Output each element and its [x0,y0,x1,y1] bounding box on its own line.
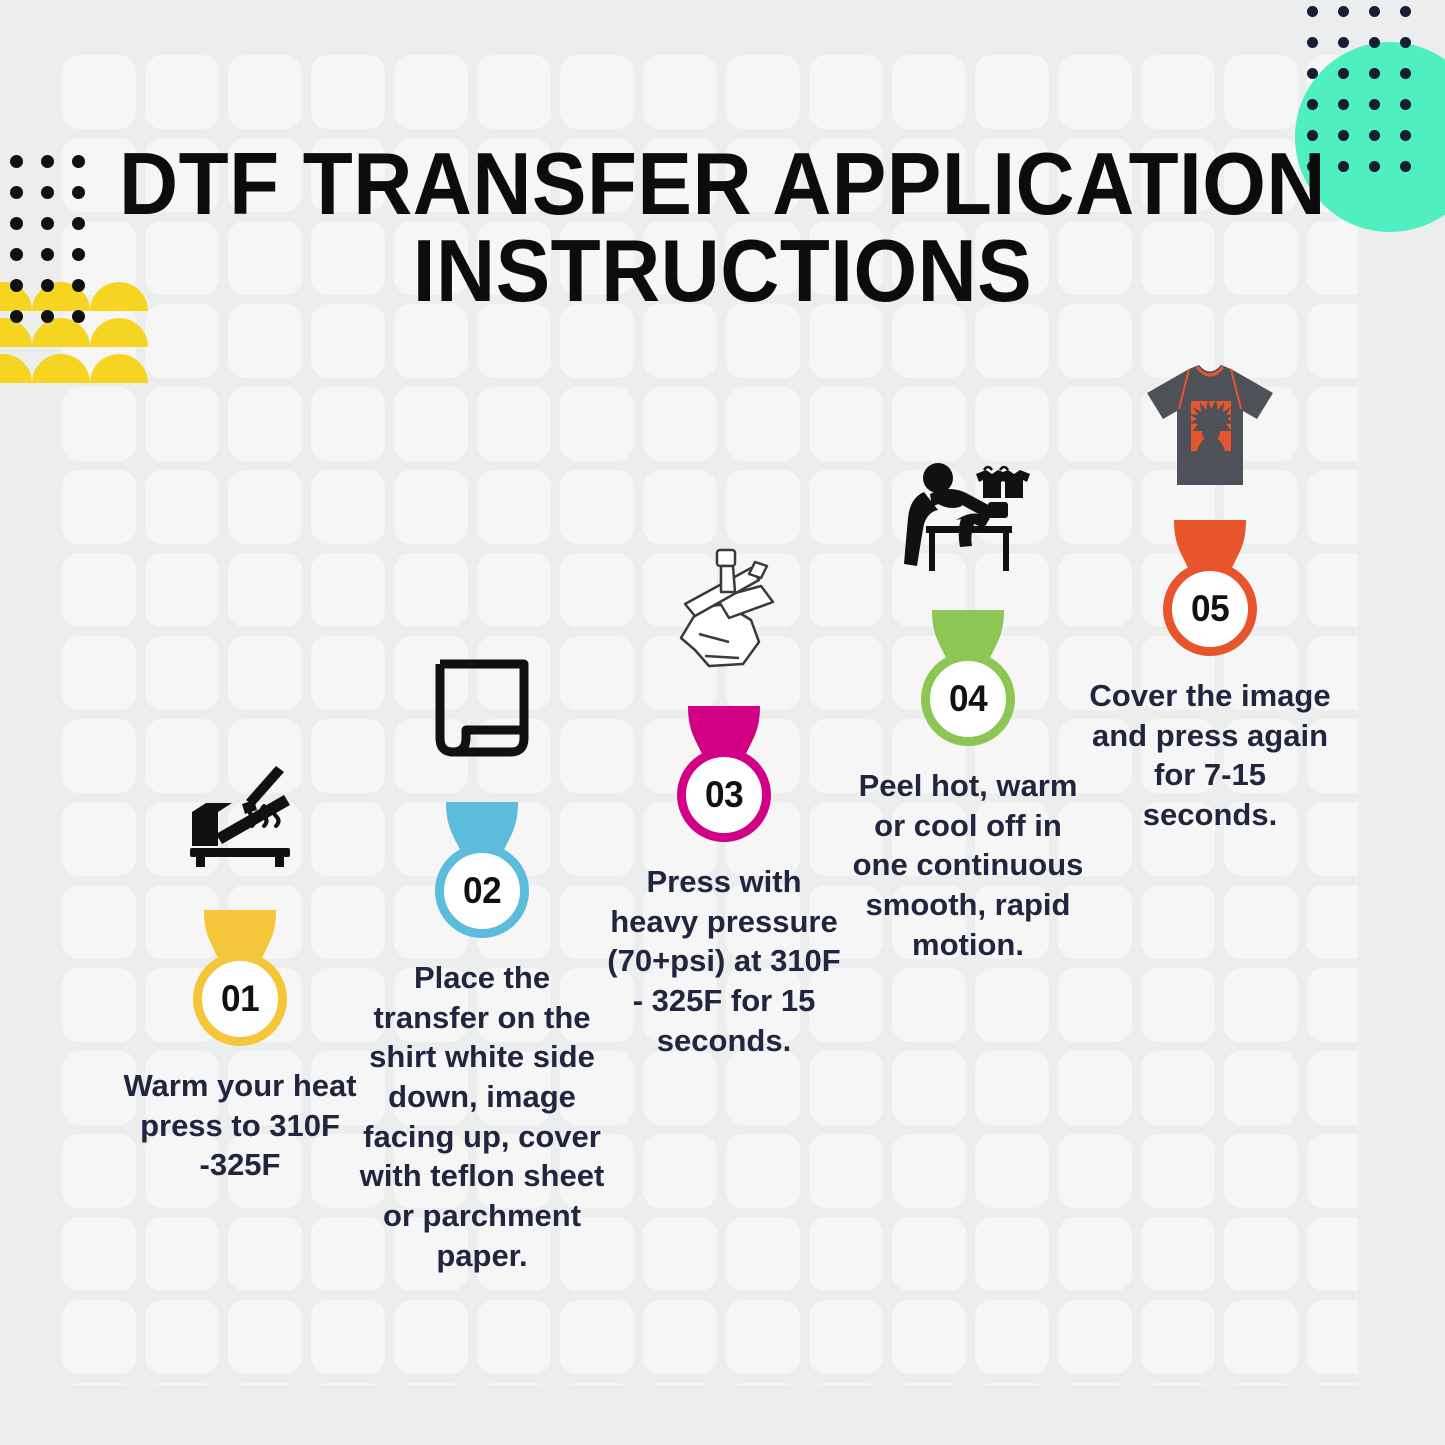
step-01-number-pin: 01 [193,952,287,1046]
step-03-description: Press with heavy pressure (70+psi) at 31… [594,862,854,1060]
transfer-sheet-icon [426,652,538,764]
heat-press-open-icon [180,764,300,868]
step-04-number: 04 [949,678,987,720]
step-02-icon-card [386,612,578,804]
step-02-number-pin: 02 [435,844,529,938]
step-04-number-pin: 04 [921,652,1015,746]
step-03-icon-card [628,516,820,708]
step-05-description: Cover the image and press again for 7-15… [1080,676,1340,835]
step-04-icon-card [872,420,1064,612]
step-card-05: 05 Cover the image and press again for 7… [1080,330,1340,835]
step-01-description: Warm your heat press to 310F -325F [110,1066,370,1185]
step-04-description: Peel hot, warm or cool off in one contin… [838,766,1098,964]
step-card-04: 04 Peel hot, warm or cool off in one con… [838,420,1098,964]
step-02-description: Place the transfer on the shirt white si… [352,958,612,1275]
step-card-02: 02 Place the transfer on the shirt white… [352,612,612,1275]
title-line-1: DTF TRANSFER APPLICATION [51,140,1395,227]
step-03-number: 03 [705,774,743,816]
page-title: DTF TRANSFER APPLICATION INSTRUCTIONS [0,140,1445,314]
step-card-03: 03 Press with heavy pressure (70+psi) at… [594,516,854,1060]
step-card-01: 01 Warm your heat press to 310F -325F [110,720,370,1185]
title-line-2: INSTRUCTIONS [51,227,1395,314]
heat-press-closing-icon [655,546,793,678]
peeling-transfer-icon [896,454,1040,578]
step-01-number: 01 [221,978,259,1020]
step-05-number-pin: 05 [1163,562,1257,656]
step-03-number-pin: 03 [677,748,771,842]
step-05-number: 05 [1191,588,1229,630]
step-02-number: 02 [463,870,501,912]
step-01-icon-card [144,720,336,912]
printed-tshirt-icon [1143,363,1277,489]
step-05-icon-card [1114,330,1306,522]
